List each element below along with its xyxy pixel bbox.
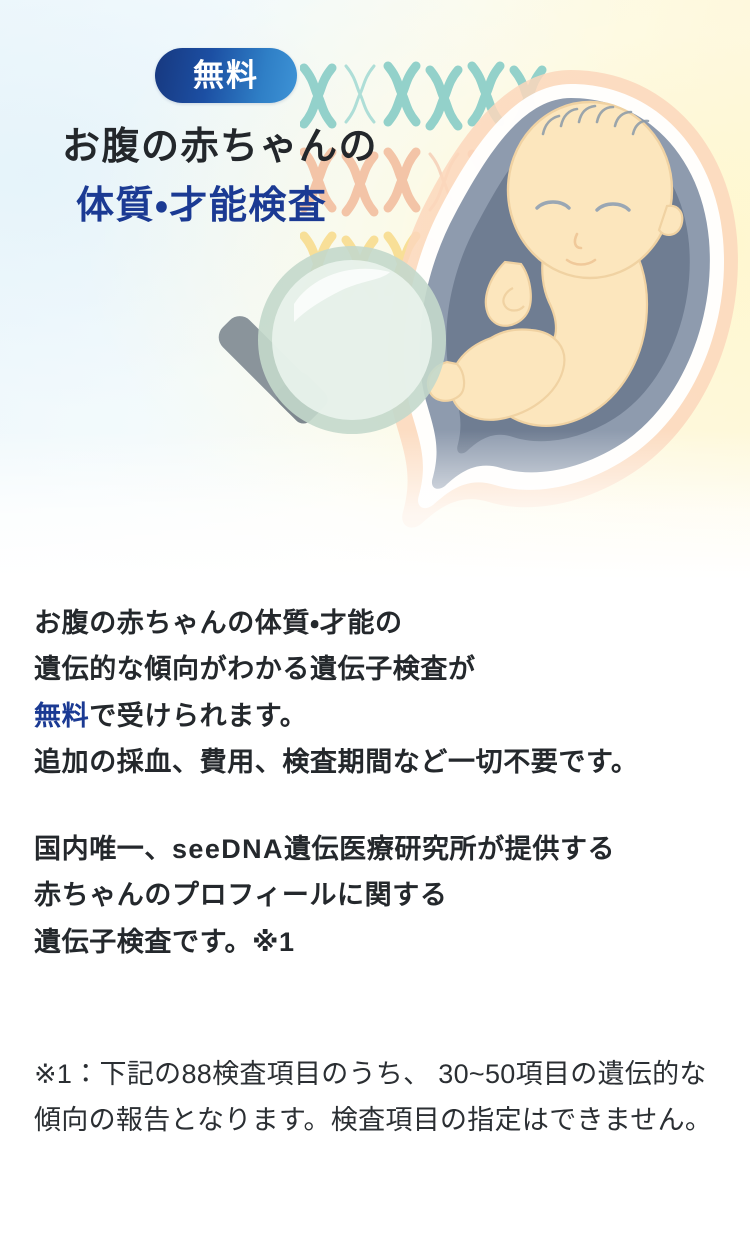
para1-line2: 遺伝的な傾向がわかる遺伝子検査が — [34, 654, 476, 684]
hero-section: 無料 お腹の赤ちゃんの 体質・才能検査 — [0, 0, 750, 580]
para2-line2: 赤ちゃんのプロフィールに関する — [34, 880, 447, 910]
para1-line3-rest: で受けられます。 — [89, 701, 307, 731]
page-title-line-1: お腹の赤ちゃんの — [0, 118, 750, 177]
landing-page-root: 無料 お腹の赤ちゃんの 体質・才能検査 お腹の赤ちゃんの体質・才能の 遺伝的な傾… — [0, 0, 750, 1252]
body-copy-section: お腹の赤ちゃんの体質・才能の 遺伝的な傾向がわかる遺伝子検査が 無料で受けられま… — [34, 600, 724, 965]
para1-free-highlight: 無料 — [34, 701, 89, 731]
para2-brand-name: seeDNA — [172, 834, 284, 864]
para1-line1: お腹の赤ちゃんの体質・才能の — [34, 608, 403, 638]
paragraph-one: お腹の赤ちゃんの体質・才能の 遺伝的な傾向がわかる遺伝子検査が 無料で受けられま… — [34, 600, 724, 786]
free-badge: 無料 — [155, 48, 297, 103]
page-title: お腹の赤ちゃんの 体質・才能検査 — [0, 118, 750, 236]
para2-line3: 遺伝子検査です。※1 — [34, 927, 295, 957]
free-badge-label: 無料 — [193, 60, 259, 91]
para1-line4: 追加の採血、費用、検査期間など一切不要です。 — [34, 747, 639, 777]
paragraph-spacer — [34, 786, 724, 826]
magnifying-glass-icon — [176, 228, 486, 528]
paragraph-two: 国内唯一、seeDNA遺伝医療研究所が提供する 赤ちゃんのプロフィールに関する … — [34, 826, 724, 965]
para2-line1-post: 遺伝医療研究所が提供する — [284, 834, 615, 864]
para2-line1-pre: 国内唯一、 — [34, 834, 172, 864]
page-title-line-2: 体質・才能検査 — [0, 177, 750, 236]
footnote-text: ※1：下記の88検査項目のうち、 30~50項目の遺伝的な傾向の報告となります。… — [34, 1052, 726, 1144]
